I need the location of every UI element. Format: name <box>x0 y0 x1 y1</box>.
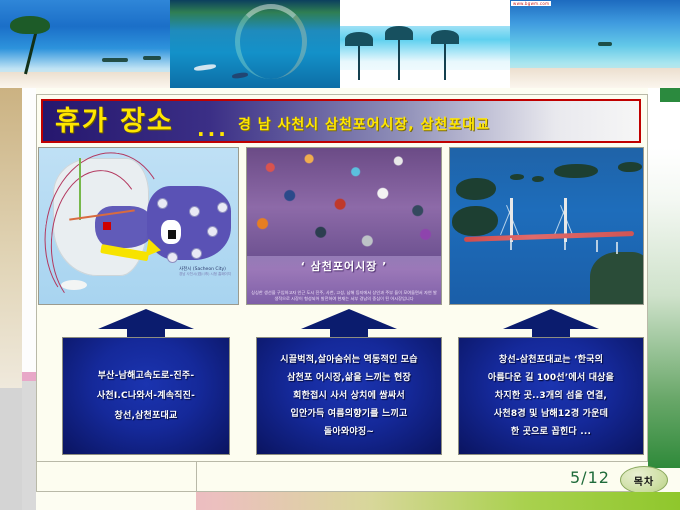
palm-frond-shape <box>358 40 360 80</box>
map-town-dot <box>157 198 168 209</box>
market-caption: ‘ 삼천포어시장 ’ <box>247 258 441 274</box>
islet-shape <box>510 174 524 180</box>
sacheon-city-marker <box>168 230 176 239</box>
slide-canvas: www.bgwm.com 휴가 장소 ... 경 남 사천시 삼천포어시장, 삼… <box>0 0 680 510</box>
canoe-shape <box>194 63 216 71</box>
korea-route-map: 사천시 (Sacheon City) 경남 사천시(泗川市) 시청 홈페이지 <box>38 147 239 305</box>
map-town-dot <box>191 248 202 259</box>
palm-frond-shape <box>398 34 400 80</box>
right-gradient-strip <box>648 148 680 468</box>
left-pink-strip <box>22 372 36 381</box>
bridge-pier <box>616 242 618 254</box>
wave-band-shape <box>340 0 510 26</box>
sand-shape <box>0 72 170 88</box>
arrow-head <box>98 309 194 329</box>
island-shape <box>143 56 161 60</box>
left-decor-band <box>0 88 22 388</box>
bottom-left-white-strip <box>36 492 196 510</box>
rainbow-shape <box>235 4 307 79</box>
page-title: 휴가 장소 <box>55 105 174 139</box>
islet-shape <box>618 162 642 172</box>
toc-button-label: 목차 <box>634 473 654 488</box>
slide-title-bar: 휴가 장소 ... 경 남 사천시 삼천포어시장, 삼천포대교 <box>41 99 641 143</box>
highway-line-shape <box>79 158 81 220</box>
left-decor-band-lower <box>0 388 22 510</box>
map-town-dot <box>189 206 200 217</box>
right-green-tab <box>660 88 680 102</box>
islet-shape <box>532 176 544 182</box>
wave-silhouette-palms-photo <box>340 0 510 88</box>
market-crowd-shapes <box>247 148 441 256</box>
route-directions-text: 부산-남해고속도로-진주- 사천I.C나와서-계속직진- 창선,삼천포대교 <box>97 366 195 426</box>
islet-shape <box>590 252 644 305</box>
palm-frond-shape <box>444 38 446 80</box>
map-city-sublabel: 경남 사천시(泗川市) 시청 홈페이지 <box>179 272 231 277</box>
fish-market-description-box: 시끌벅적,살아숨쉬는 역동적인 모습 삼천포 어시장,삶을 느끼는 현장 회한접… <box>256 337 442 455</box>
top-photo-banner: www.bgwm.com <box>0 0 680 88</box>
islet-shape <box>554 164 598 178</box>
arrow-head <box>503 309 599 329</box>
left-grey-strip <box>22 381 36 510</box>
islet-shape <box>452 206 498 236</box>
island-shape <box>598 42 612 46</box>
changseon-samcheonpo-bridge-photo <box>449 147 644 305</box>
canoe-shape <box>232 72 249 79</box>
route-directions-box: 부산-남해고속도로-진주- 사천I.C나와서-계속직진- 창선,삼천포대교 <box>62 337 230 455</box>
jeju-island-shape <box>61 280 87 290</box>
samcheonpo-fish-market-photo: ‘ 삼천포어시장 ’ 싱싱한 생선을 구입하고자 인근 도시 진주, 사천, 고… <box>246 147 442 305</box>
toc-button[interactable]: 목차 <box>620 466 668 494</box>
bridge-description-box: 창선-삼천포대교는 ‘한국의 아름다운 길 100선’에서 대상을 차지한 곳.… <box>458 337 644 455</box>
tropical-beach-palm-photo <box>0 0 170 88</box>
title-ellipsis: ... <box>197 117 229 141</box>
bridge-pier <box>510 238 512 250</box>
picture-row: 사천시 (Sacheon City) 경남 사천시(泗川市) 시청 홈페이지 ‘… <box>38 147 644 305</box>
bridge-description-text: 창선-삼천포대교는 ‘한국의 아름다운 길 100선’에서 대상을 차지한 곳.… <box>488 351 614 441</box>
bridge-pier <box>564 238 566 250</box>
islet-shape <box>456 178 496 200</box>
footer-divider-left <box>36 461 196 491</box>
fish-market-description-text: 시끌벅적,살아숨쉬는 역동적인 모습 삼천포 어시장,삶을 느끼는 현장 회한접… <box>280 351 418 441</box>
arrow-head <box>301 309 397 329</box>
map-town-dot <box>217 202 228 213</box>
market-description-text: 싱싱한 생선을 구입하고자 인근 도시 진주, 사천, 고성, 남해 등지에서 … <box>251 290 437 302</box>
wave-band-shape <box>340 70 510 88</box>
watermark-text: www.bgwm.com <box>511 1 551 6</box>
island-shape <box>102 58 128 62</box>
page-subtitle: 경 남 사천시 삼천포어시장, 삼천포대교 <box>238 114 490 134</box>
map-town-dot <box>167 252 178 263</box>
left-white-strip <box>22 88 36 372</box>
bridge-pier <box>596 240 598 252</box>
lagoon-outrigger-canoe-photo <box>170 0 340 88</box>
map-town-dot <box>207 226 218 237</box>
sand-shape <box>510 68 680 88</box>
sacheon-marker <box>103 222 111 230</box>
white-sand-beach-photo: www.bgwm.com <box>510 0 680 88</box>
page-number: 5/12 <box>570 468 610 487</box>
